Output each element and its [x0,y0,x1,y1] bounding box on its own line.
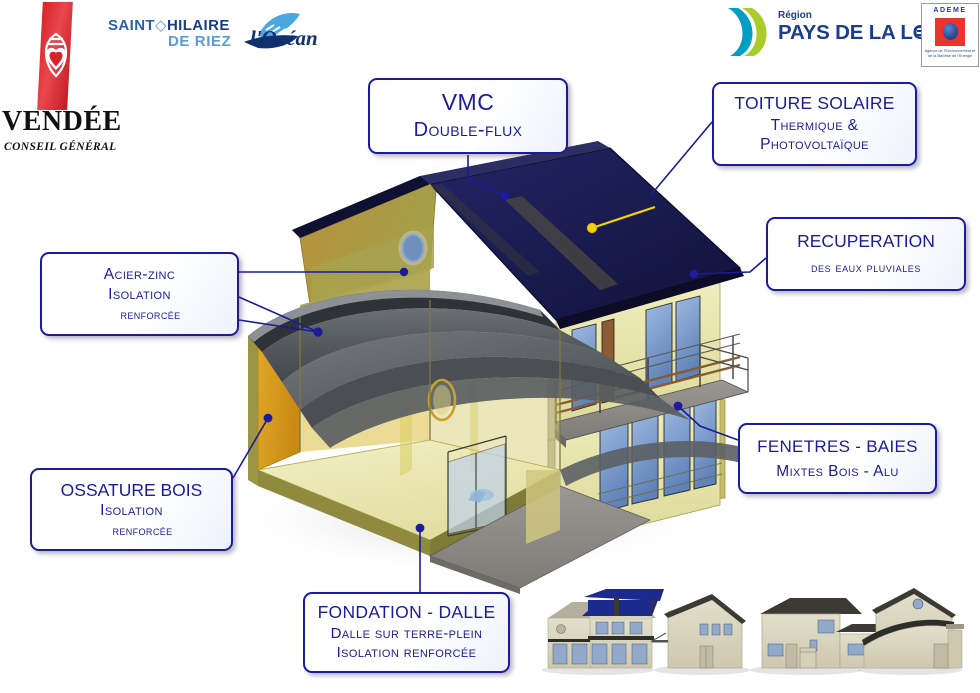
callout-ossature-line3: renforcée [54,524,231,539]
callout-fenetres-line1: FENETRES - BAIES [740,437,935,456]
callout-acier-line1: Acier-zinc [42,266,237,283]
callout-acier-line3: renforcée [64,308,237,323]
callout-recup-line1: RECUPERATION [768,232,964,252]
slide-canvas: VENDÉE CONSEIL GÉNÉRAL SAINT◇HILAIRE DE … [0,0,980,693]
callout-vmc-line1: VMC [370,90,566,116]
thumb-facade-nord [750,598,878,675]
callout-fenetres-baies[interactable]: FENETRES - BAIES Mixtes Bois - Alu [738,423,937,494]
callout-fondation-line3: Isolation renforcée [305,645,508,662]
callout-recuperation[interactable]: RECUPERATION des eaux pluviales [766,217,966,291]
thumb-pignon-est [652,594,750,675]
callout-ossature-bois[interactable]: OSSATURE BOIS Isolation renforcée [30,468,233,551]
callout-toiture-line3: Photovoltaïque [714,136,915,153]
callout-acier-zinc[interactable]: Acier-zinc Isolation renforcée [40,252,239,336]
callout-acier-line2: Isolation [42,286,237,303]
callout-recup-line2: des eaux pluviales [768,261,964,276]
callout-fondation-line1: FONDATION - DALLE [305,603,508,623]
callout-fondation-dalle[interactable]: FONDATION - DALLE Dalle sur terre-plein … [303,592,510,673]
callout-toiture-line2: Thermique & [714,117,915,134]
callout-vmc-line2: Double-flux [370,119,566,141]
callout-ossature-line1: OSSATURE BOIS [32,481,231,501]
thumb-facade-sud [542,589,664,675]
callout-toiture-solaire[interactable]: TOITURE SOLAIRE Thermique & Photovoltaïq… [712,82,917,166]
callout-toiture-line1: TOITURE SOLAIRE [714,94,915,114]
callout-ossature-line2: Isolation [32,502,231,519]
callout-fondation-line2: Dalle sur terre-plein [305,626,508,643]
callout-vmc[interactable]: VMC Double-flux [368,78,568,154]
callout-fenetres-line2: Mixtes Bois - Alu [740,463,935,480]
